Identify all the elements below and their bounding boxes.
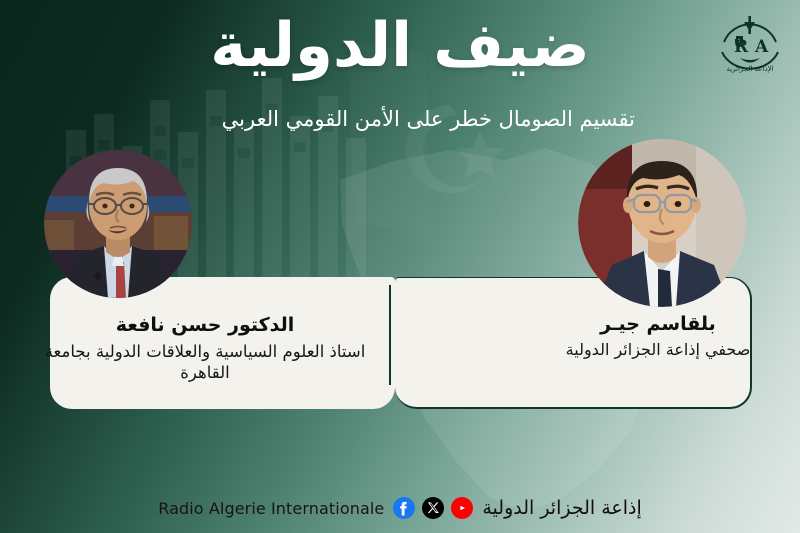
portrait-belkacem-djir (578, 139, 746, 307)
card-divider (389, 285, 391, 385)
poster-canvas: R A الإذاعة الجزائرية ضيف الدولية تقسيم … (0, 0, 800, 533)
guest-info-right: بلقاسم جيـر صحفي إذاعة الجزائر الدولية (560, 313, 756, 360)
guest-name-left: الدكتور حسن نافعة (40, 314, 370, 338)
youtube-icon[interactable] (451, 497, 473, 519)
footer-bar: Radio Algerie Internationale (0, 497, 800, 519)
facebook-icon[interactable] (393, 497, 415, 519)
guest-role-right: صحفي إذاعة الجزائر الدولية (560, 340, 756, 360)
social-links (393, 497, 473, 519)
portrait-hassan-nafaa (44, 150, 192, 298)
footer-latin-label: Radio Algerie Internationale (158, 499, 384, 518)
guest-info-left: الدكتور حسن نافعة استاذ العلوم السياسية … (40, 314, 370, 383)
poster-subtitle: تقسيم الصومال خطر على الأمن القومي العرب… (165, 106, 635, 133)
footer-arabic-label: إذاعة الجزائر الدولية (482, 497, 641, 519)
poster-title: ضيف الدولية (0, 14, 800, 78)
x-twitter-icon[interactable] (422, 497, 444, 519)
guest-name-right: بلقاسم جيـر (560, 313, 756, 337)
guest-role-left: استاذ العلوم السياسية والعلاقات الدولية … (40, 341, 370, 383)
